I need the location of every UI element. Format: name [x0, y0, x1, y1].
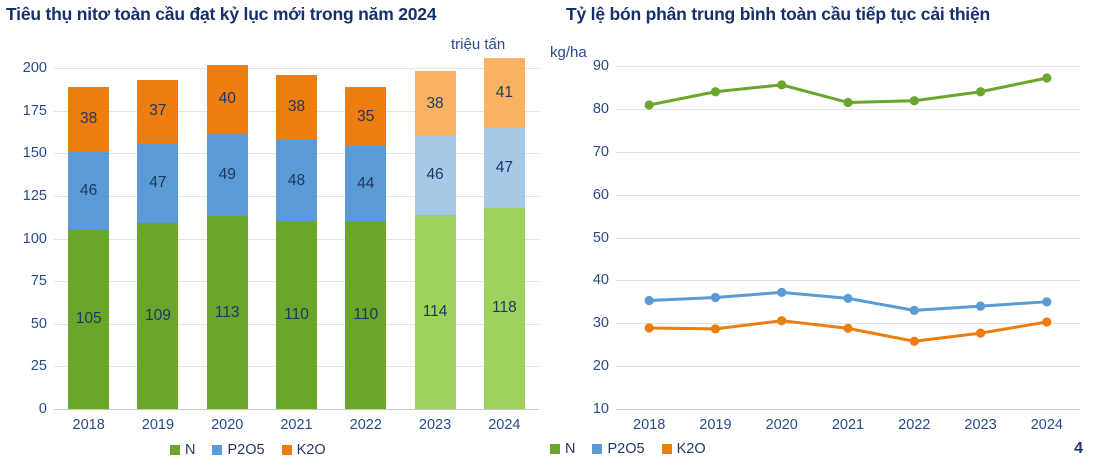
- right-y-tick-label: 90: [593, 58, 609, 74]
- left-y-tick-label: 25: [31, 358, 47, 374]
- left-y-tick-label: 75: [31, 273, 47, 289]
- data-point-n: [843, 98, 852, 107]
- data-point-n: [777, 80, 786, 89]
- legend-label: P2O5: [607, 441, 644, 457]
- left-chart-legend: NP2O5K2O: [170, 442, 326, 458]
- bar-segment-n: 114: [415, 215, 456, 409]
- line-series-svg: [616, 66, 1080, 409]
- data-point-p2o5: [1042, 297, 1051, 306]
- bar-value-label: 110: [284, 306, 309, 324]
- left-y-tick-label: 50: [31, 316, 47, 332]
- bar-segment-n: 110: [276, 221, 317, 409]
- right-chart-legend: NP2O5K2O: [550, 441, 706, 457]
- bar-segment-k2o: 38: [276, 75, 317, 140]
- left-x-tick-label: 2020: [211, 417, 243, 433]
- bar-value-label: 46: [426, 166, 443, 184]
- right-x-tick-label: 2018: [633, 417, 665, 433]
- left-x-tick-label: 2018: [73, 417, 105, 433]
- left-unit-label: triệu tấn: [451, 36, 505, 53]
- bar-segment-k2o: 37: [137, 80, 178, 143]
- bar-segment-n: 113: [207, 216, 248, 409]
- right-y-tick-label: 10: [593, 401, 609, 417]
- bar-segment-p2o5: 49: [207, 133, 248, 217]
- legend-item-k2o[interactable]: K2O: [282, 442, 326, 458]
- data-point-n: [976, 87, 985, 96]
- legend-swatch-icon: [592, 444, 602, 454]
- bar-value-label: 35: [357, 108, 374, 126]
- legend-label: P2O5: [227, 442, 264, 458]
- bar-segment-k2o: 40: [207, 65, 248, 133]
- legend-item-k2o[interactable]: K2O: [662, 441, 706, 457]
- data-point-p2o5: [976, 302, 985, 311]
- right-y-tick-label: 60: [593, 187, 609, 203]
- bar-value-label: 110: [353, 306, 378, 324]
- data-point-p2o5: [777, 288, 786, 297]
- right-y-tick-label: 70: [593, 144, 609, 160]
- stacked-bar-chart-panel: Tiêu thụ nitơ toàn cầu đạt kỷ lục mới tr…: [0, 0, 550, 466]
- legend-label: N: [565, 441, 575, 457]
- legend-swatch-icon: [662, 444, 672, 454]
- left-x-tick-label: 2023: [419, 417, 451, 433]
- legend-label: N: [185, 442, 195, 458]
- page-title: Tiêu thụ nitơ toàn cầu đạt kỷ lục mới tr…: [6, 4, 436, 25]
- left-x-tick-label: 2019: [142, 417, 174, 433]
- left-y-tick-label: 0: [39, 401, 47, 417]
- left-y-tick-label: 200: [23, 60, 47, 76]
- legend-item-n[interactable]: N: [170, 442, 195, 458]
- data-point-p2o5: [843, 294, 852, 303]
- right-y-tick-label: 20: [593, 358, 609, 374]
- bar-value-label: 38: [426, 95, 443, 113]
- bar-value-label: 38: [80, 110, 97, 128]
- bar-value-label: 105: [76, 310, 102, 328]
- right-unit-label: kg/ha: [550, 44, 587, 61]
- legend-swatch-icon: [170, 445, 180, 455]
- bar-segment-p2o5: 46: [415, 136, 456, 214]
- right-plot-area: 1020304050607080902018201920202021202220…: [616, 66, 1080, 409]
- legend-swatch-icon: [550, 444, 560, 454]
- bar-value-label: 40: [219, 90, 236, 108]
- data-point-p2o5: [645, 296, 654, 305]
- bar-segment-n: 110: [345, 221, 386, 409]
- bar-group: 1184741: [484, 68, 525, 409]
- left-y-tick-label: 125: [23, 188, 47, 204]
- data-point-k2o: [645, 323, 654, 332]
- bar-group: 1144638: [415, 68, 456, 409]
- bar-segment-k2o: 38: [415, 71, 456, 136]
- bar-value-label: 46: [80, 182, 97, 200]
- data-point-p2o5: [711, 293, 720, 302]
- right-y-tick-label: 30: [593, 315, 609, 331]
- data-point-n: [645, 100, 654, 109]
- bar-value-label: 48: [288, 172, 305, 190]
- right-x-tick-label: 2021: [832, 417, 864, 433]
- left-y-tick-label: 175: [23, 103, 47, 119]
- left-y-tick-label: 150: [23, 145, 47, 161]
- bar-group: 1104838: [276, 68, 317, 409]
- data-point-n: [1042, 73, 1051, 82]
- bar-value-label: 47: [496, 159, 513, 177]
- legend-item-p2o5[interactable]: P2O5: [212, 442, 264, 458]
- bar-value-label: 118: [492, 299, 517, 317]
- left-x-tick-label: 2021: [280, 417, 312, 433]
- right-chart-title: Tỷ lệ bón phân trung bình toàn cầu tiếp …: [566, 4, 990, 25]
- data-point-k2o: [1042, 317, 1051, 326]
- right-x-tick-label: 2020: [766, 417, 798, 433]
- legend-label: K2O: [297, 442, 326, 458]
- bar-value-label: 109: [145, 307, 171, 325]
- bar-value-label: 37: [149, 102, 166, 120]
- right-y-tick-label: 80: [593, 101, 609, 117]
- right-x-tick-label: 2023: [964, 417, 996, 433]
- bar-segment-p2o5: 47: [137, 143, 178, 223]
- bar-value-label: 113: [215, 304, 240, 322]
- bar-segment-n: 118: [484, 208, 525, 409]
- bar-value-label: 41: [496, 84, 513, 102]
- bar-value-label: 38: [288, 98, 305, 116]
- line-chart-panel: Tỷ lệ bón phân trung bình toàn cầu tiếp …: [550, 0, 1097, 466]
- bar-segment-p2o5: 46: [68, 152, 109, 230]
- bar-segment-p2o5: 44: [345, 146, 386, 221]
- bar-segment-k2o: 38: [68, 87, 109, 152]
- bar-segment-n: 105: [68, 230, 109, 409]
- right-y-tick-label: 40: [593, 272, 609, 288]
- legend-swatch-icon: [282, 445, 292, 455]
- legend-swatch-icon: [212, 445, 222, 455]
- left-y-tick-label: 100: [23, 231, 47, 247]
- right-x-tick-label: 2022: [898, 417, 930, 433]
- bar-value-label: 114: [423, 303, 448, 321]
- data-point-k2o: [976, 329, 985, 338]
- legend-item-n[interactable]: N: [550, 441, 575, 457]
- bar-value-label: 44: [357, 175, 374, 193]
- data-point-p2o5: [910, 306, 919, 315]
- bar-group: 1104435: [345, 68, 386, 409]
- data-point-n: [711, 87, 720, 96]
- left-plot-area: 0255075100125150175200105463820181094737…: [54, 68, 539, 409]
- page-number: 4: [1074, 440, 1083, 458]
- left-gridline: [54, 409, 539, 410]
- legend-item-p2o5[interactable]: P2O5: [592, 441, 644, 457]
- bar-segment-p2o5: 47: [484, 128, 525, 208]
- bar-group: 1094737: [137, 68, 178, 409]
- bar-group: 1054638: [68, 68, 109, 409]
- data-point-k2o: [711, 324, 720, 333]
- data-point-k2o: [777, 316, 786, 325]
- right-x-tick-label: 2019: [699, 417, 731, 433]
- bar-value-label: 47: [149, 174, 166, 192]
- bar-segment-p2o5: 48: [276, 140, 317, 222]
- data-point-n: [910, 96, 919, 105]
- right-gridline: [616, 409, 1080, 410]
- bar-segment-k2o: 35: [345, 87, 386, 147]
- left-x-tick-label: 2024: [488, 417, 520, 433]
- data-point-k2o: [843, 324, 852, 333]
- data-point-k2o: [910, 337, 919, 346]
- bar-group: 1134940: [207, 68, 248, 409]
- bar-value-label: 49: [219, 166, 236, 184]
- bar-segment-n: 109: [137, 223, 178, 409]
- right-y-tick-label: 50: [593, 230, 609, 246]
- left-x-tick-label: 2022: [350, 417, 382, 433]
- legend-label: K2O: [677, 441, 706, 457]
- bar-segment-k2o: 41: [484, 58, 525, 128]
- right-x-tick-label: 2024: [1031, 417, 1063, 433]
